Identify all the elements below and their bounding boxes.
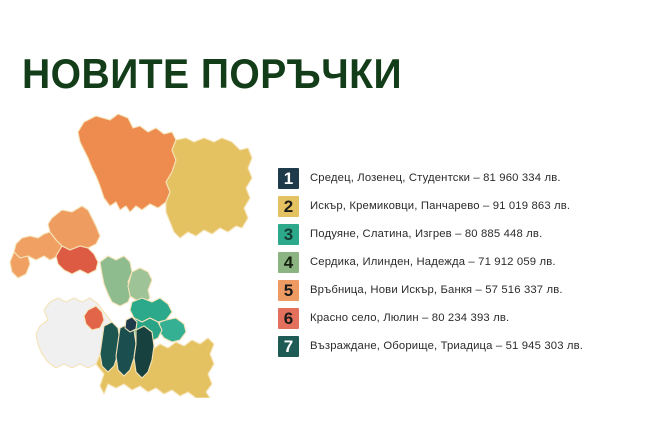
legend-label-2: Искър, Кремиковци, Панчарево – 91 019 86… xyxy=(310,199,570,213)
map-region-nadezhda xyxy=(100,256,132,306)
legend-label-4: Сердика, Илинден, Надежда – 71 912 059 л… xyxy=(310,255,556,269)
rank-badge-5: 5 xyxy=(278,280,299,301)
legend-list: 1 Средец, Лозенец, Студентски – 81 960 3… xyxy=(278,164,644,360)
legend-item-2[interactable]: 2 Искър, Кремиковци, Панчарево – 91 019 … xyxy=(278,192,644,220)
legend-item-3[interactable]: 3 Подуяне, Слатина, Изгрев – 80 885 448 … xyxy=(278,220,644,248)
rank-badge-2: 2 xyxy=(278,196,299,217)
legend-label-5: Връбница, Нови Искър, Банкя – 57 516 337… xyxy=(310,283,563,297)
legend-label-6: Красно село, Люлин – 80 234 393 лв. xyxy=(310,311,509,325)
page-root: НОВИТЕ ПОРЪЧКИ xyxy=(0,0,650,424)
legend-item-1[interactable]: 1 Средец, Лозенец, Студентски – 81 960 3… xyxy=(278,164,644,192)
legend-label-3: Подуяне, Слатина, Изгрев – 80 885 448 лв… xyxy=(310,227,542,241)
map-region-krasno-selo xyxy=(56,246,98,274)
legend-item-6[interactable]: 6 Красно село, Люлин – 80 234 393 лв. xyxy=(278,304,644,332)
legend-item-7[interactable]: 7 Възраждане, Оборище, Триадица – 51 945… xyxy=(278,332,644,360)
rank-badge-1: 1 xyxy=(278,168,299,189)
legend-label-1: Средец, Лозенец, Студентски – 81 960 334… xyxy=(310,171,561,185)
legend-item-5[interactable]: 5 Връбница, Нови Искър, Банкя – 57 516 3… xyxy=(278,276,644,304)
legend-item-4[interactable]: 4 Сердика, Илинден, Надежда – 71 912 059… xyxy=(278,248,644,276)
map-region-kremikovtsi xyxy=(166,138,252,238)
page-title: НОВИТЕ ПОРЪЧКИ xyxy=(22,51,402,97)
rank-badge-4: 4 xyxy=(278,252,299,273)
map-region-novi-iskar xyxy=(78,114,176,212)
rank-badge-3: 3 xyxy=(278,224,299,245)
rank-badge-7: 7 xyxy=(278,336,299,357)
rank-badge-6: 6 xyxy=(278,308,299,329)
legend-label-7: Възраждане, Оборище, Триадица – 51 945 3… xyxy=(310,339,583,353)
sofia-districts-map xyxy=(0,98,272,398)
